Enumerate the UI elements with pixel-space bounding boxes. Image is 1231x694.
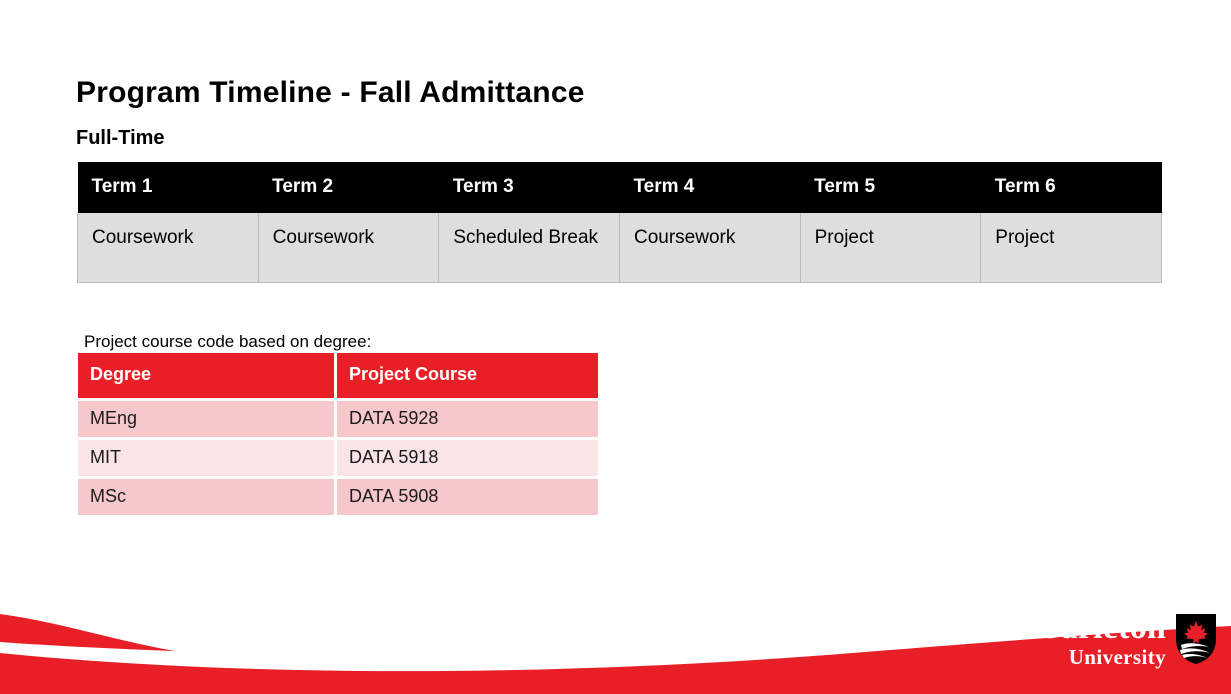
table-row: MIT DATA 5918 — [78, 440, 598, 479]
timeline-cell-term-4: Coursework — [619, 213, 800, 283]
degree-header-row: Degree Project Course — [78, 353, 598, 401]
degree-cell-name: MIT — [78, 440, 337, 479]
timeline-header-cell-term-6: Term 6 — [981, 162, 1162, 213]
timeline-cell-term-3: Scheduled Break — [439, 213, 620, 283]
timeline-header-cell-term-4: Term 4 — [619, 162, 800, 213]
degree-course-table: Degree Project Course MEng DATA 5928 MIT… — [78, 353, 598, 515]
timeline-cell-term-2: Coursework — [258, 213, 439, 283]
timeline-header-cell-term-2: Term 2 — [258, 162, 439, 213]
degree-cell-course: DATA 5928 — [337, 401, 598, 440]
logo-name: Carleton — [1036, 611, 1166, 645]
logo-subtitle: University — [1069, 647, 1166, 668]
program-timeline-table: Term 1 Term 2 Term 3 Term 4 Term 5 Term … — [77, 162, 1162, 283]
table-row: MEng DATA 5928 — [78, 401, 598, 440]
wave-swoosh-upper — [0, 614, 175, 651]
carleton-shield-icon — [1174, 612, 1218, 666]
timeline-header-cell-term-1: Term 1 — [78, 162, 259, 213]
logo-wordmark: Carleton University — [1036, 611, 1166, 668]
table-row: Coursework Coursework Scheduled Break Co… — [78, 213, 1162, 283]
carleton-logo: Carleton University — [1036, 608, 1212, 670]
degree-cell-course: DATA 5918 — [337, 440, 598, 479]
timeline-cell-term-6: Project — [981, 213, 1162, 283]
table-row: MSc DATA 5908 — [78, 479, 598, 515]
timeline-header-cell-term-5: Term 5 — [800, 162, 981, 213]
slide-canvas: Program Timeline - Fall Admittance Full-… — [0, 0, 1231, 694]
degree-header-cell-project-course: Project Course — [337, 353, 598, 401]
degree-cell-name: MSc — [78, 479, 337, 515]
timeline-header-cell-term-3: Term 3 — [439, 162, 620, 213]
degree-header-cell-degree: Degree — [78, 353, 337, 401]
timeline-header-row: Term 1 Term 2 Term 3 Term 4 Term 5 Term … — [78, 162, 1162, 213]
degree-cell-course: DATA 5908 — [337, 479, 598, 515]
degree-cell-name: MEng — [78, 401, 337, 440]
page-title: Program Timeline - Fall Admittance — [76, 76, 585, 110]
degree-table-caption: Project course code based on degree: — [84, 332, 371, 352]
timeline-cell-term-5: Project — [800, 213, 981, 283]
page-subtitle: Full-Time — [76, 127, 165, 150]
timeline-cell-term-1: Coursework — [78, 213, 259, 283]
